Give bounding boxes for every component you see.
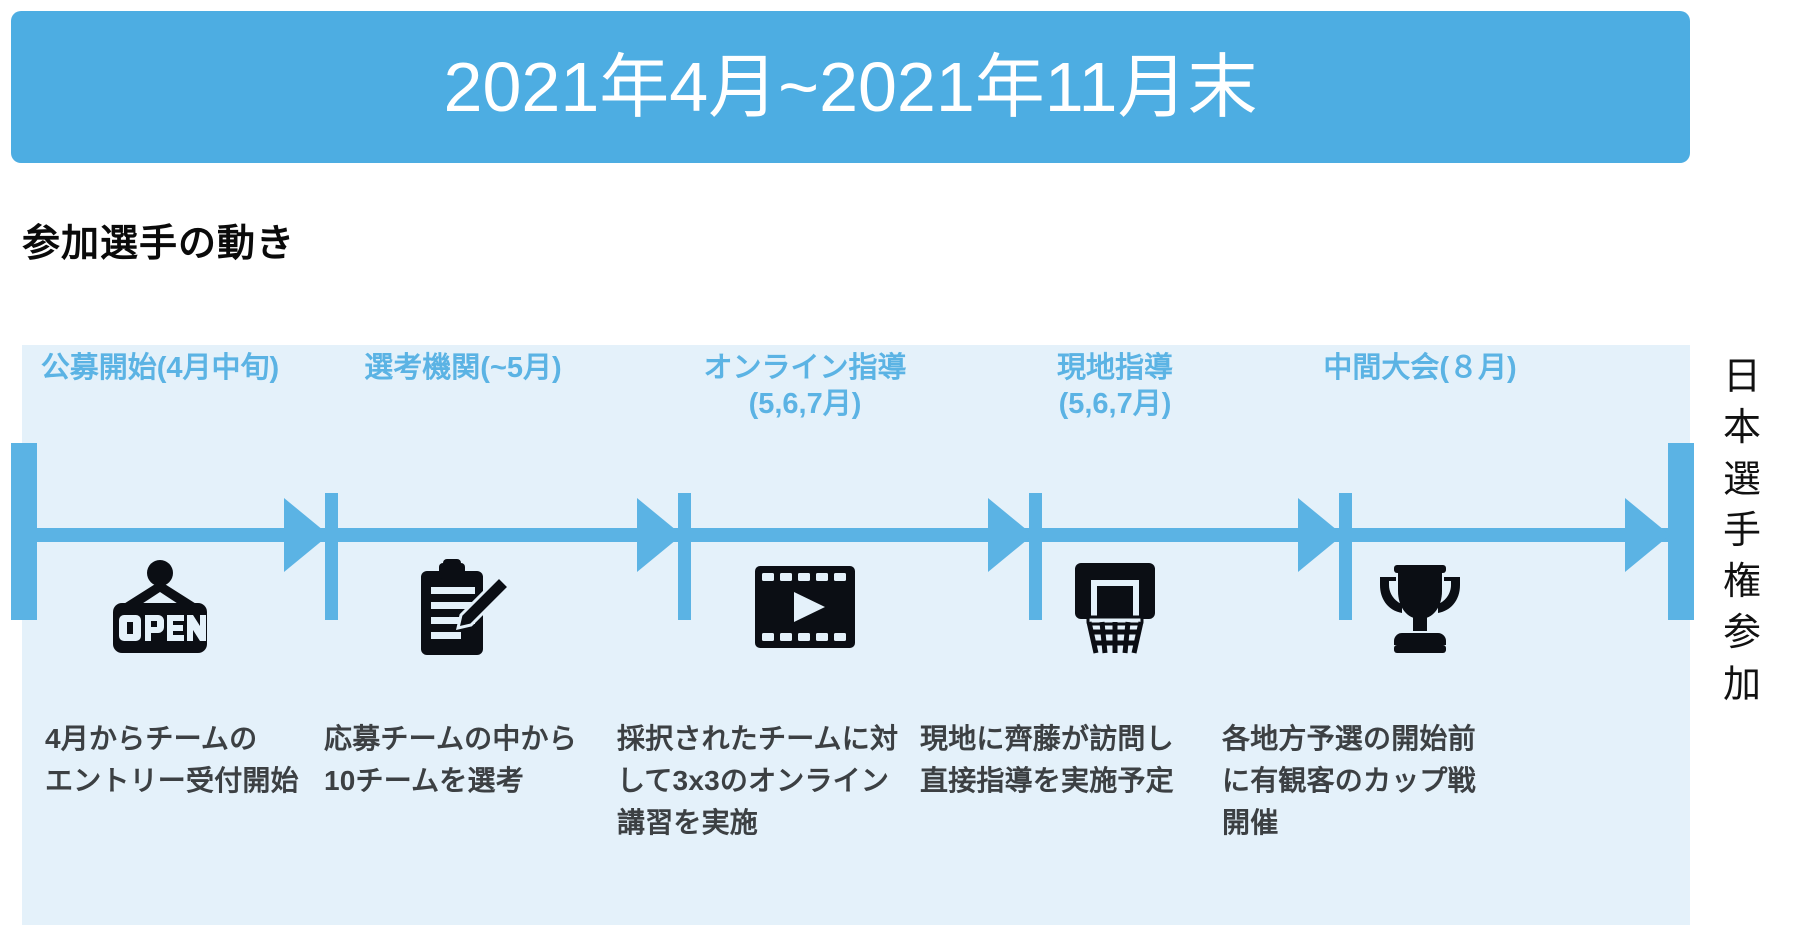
- goal-char-5: 権: [1712, 557, 1772, 608]
- timeline-page: 2021年4月~2021年11月末 参加選手の動き 公募開始(4月中旬): [0, 0, 1798, 940]
- goal-char-7: 加: [1712, 660, 1772, 711]
- milestone-2-label: 選考機関(~5月): [323, 350, 603, 386]
- trophy-icon: [1280, 552, 1560, 662]
- timeline-axis-line: [22, 528, 1682, 542]
- timeline-end-bar: [1668, 443, 1694, 620]
- milestone-1-description: 4月からチームの エントリー受付開始: [45, 718, 345, 802]
- milestone-5-label: 中間大会(８月): [1280, 350, 1560, 386]
- goal-char-1: 日: [1712, 352, 1772, 403]
- milestone-4-label: 現地指導 (5,6,7月): [975, 350, 1255, 423]
- milestone-2-description: 応募チームの中から 10チームを選考: [324, 718, 624, 802]
- basketball-hoop-icon: [975, 552, 1255, 662]
- goal-char-4: 手: [1712, 506, 1772, 557]
- video-play-icon: [665, 552, 945, 662]
- milestone-1-label: 公募開始(4月中旬): [20, 350, 300, 386]
- goal-char-2: 本: [1712, 403, 1772, 454]
- section-heading: 参加選手の動き: [22, 212, 295, 267]
- milestone-2[interactable]: 選考機関(~5月): [323, 350, 603, 386]
- header-banner: 2021年4月~2021年11月末: [11, 11, 1690, 163]
- page-title: 2021年4月~2021年11月末: [444, 52, 1258, 122]
- clipboard-pencil-icon: [323, 552, 603, 662]
- milestone-5-description: 各地方予選の開始前 に有観客のカップ戦 開催: [1222, 718, 1522, 844]
- goal-vertical-label: 日 本 選 手 権 参 加: [1712, 352, 1772, 711]
- milestone-4-description: 現地に齊藤が訪問し 直接指導を実施予定: [920, 718, 1220, 802]
- milestone-4[interactable]: 現地指導 (5,6,7月): [975, 350, 1255, 423]
- milestone-3[interactable]: オンライン指導 (5,6,7月): [665, 350, 945, 423]
- open-sign-icon: [20, 552, 300, 662]
- milestone-3-description: 採択されたチームに対 して3x3のオンライン 講習を実施: [617, 718, 917, 844]
- milestone-1[interactable]: 公募開始(4月中旬): [20, 350, 300, 386]
- timeline-arrow-5: [1625, 498, 1670, 572]
- milestone-5[interactable]: 中間大会(８月): [1280, 350, 1560, 386]
- goal-char-3: 選: [1712, 455, 1772, 506]
- goal-char-6: 参: [1712, 608, 1772, 659]
- milestone-3-label: オンライン指導 (5,6,7月): [665, 350, 945, 423]
